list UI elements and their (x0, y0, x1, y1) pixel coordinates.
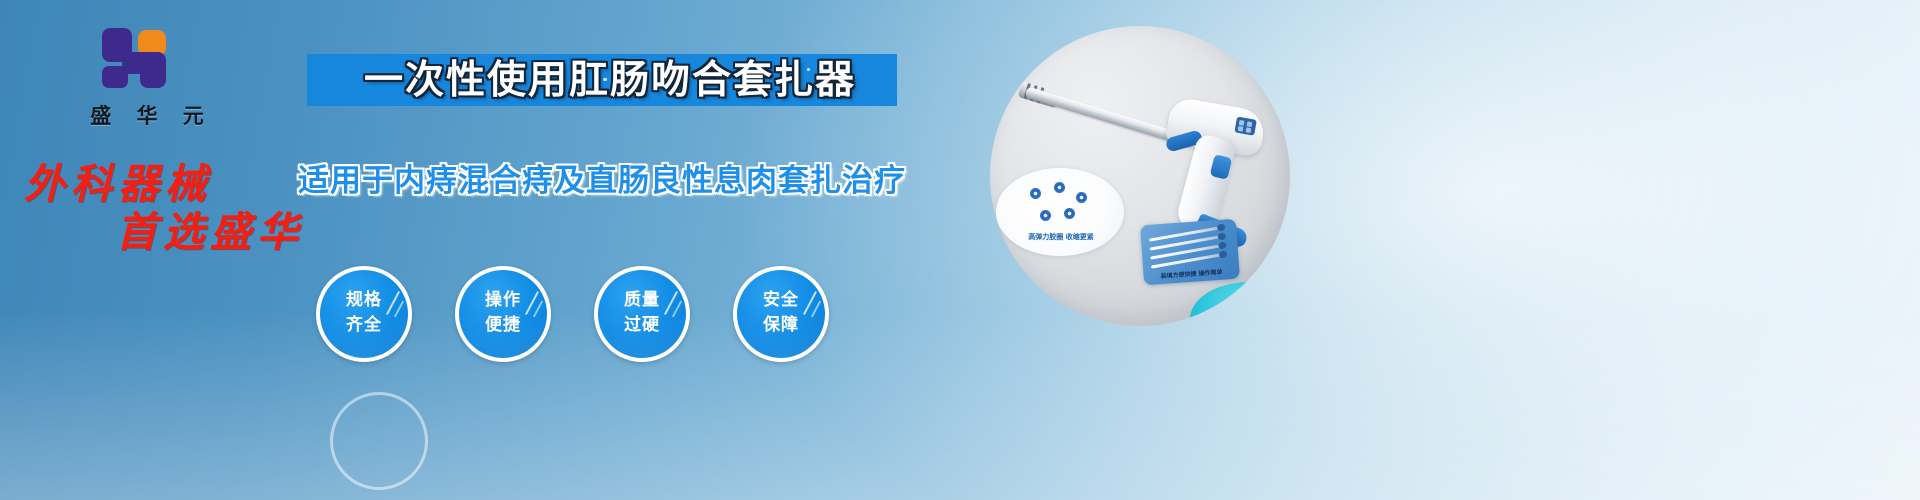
feature-badge-0[interactable]: 规格 齐全 (316, 266, 412, 362)
cartridge-icon (1207, 299, 1285, 326)
page-subtitle: 适用于内痔混合痔及直肠良性息肉套扎治疗 (292, 160, 912, 202)
feature-badge-0-line2: 齐全 (320, 313, 408, 338)
product-photo: 高弹力胶圈 收缩更紧 装填方便快捷 操作简单 (990, 26, 1290, 326)
feature-badge-2[interactable]: 质量 过硬 (594, 266, 690, 362)
shenghuayuan-logo-mark (100, 26, 194, 90)
brand-name: 盛 华 元 (72, 100, 222, 130)
accessory-label-panel: 装填方便快捷 操作简单 (1140, 219, 1240, 286)
feature-badges: 规格 齐全 操作 便捷 质量 过硬 安全 保障 (300, 266, 860, 371)
feature-badge-1[interactable]: 操作 便捷 (455, 266, 551, 362)
feature-badge-3-line2: 保障 (737, 313, 825, 338)
feature-badge-1-line2: 便捷 (459, 313, 547, 338)
feature-badge-0-line1: 规格 (320, 288, 408, 313)
rubber-rings-inset: 高弹力胶圈 收缩更紧 (996, 168, 1124, 256)
feature-badge-2-line1: 质量 (598, 288, 686, 313)
rubber-rings-caption: 高弹力胶圈 收缩更紧 (1006, 232, 1116, 242)
feature-badge-2-line2: 过硬 (598, 313, 686, 338)
slogan-line-2: 首选盛华 (116, 198, 304, 258)
rubber-ring-icon (1076, 192, 1087, 203)
device-control-panel (1234, 117, 1256, 136)
feature-badge-3[interactable]: 安全 保障 (733, 266, 829, 362)
rubber-ring-icon (1054, 182, 1065, 193)
rubber-ring-icon (1040, 210, 1051, 221)
promo-banner: 盛 华 元 一次性使用肛肠吻合套扎器 适用于内痔混合痔及直肠良性息肉套扎治疗 外… (0, 0, 1920, 500)
rubber-ring-icon (1030, 188, 1041, 199)
accessory-caption: 装填方便快捷 操作简单 (1143, 266, 1239, 282)
device-button (1210, 154, 1233, 180)
brand-logo[interactable]: 盛 华 元 (72, 26, 222, 126)
page-title: 一次性使用肛肠吻合套扎器 (330, 55, 890, 107)
feature-badge-1-line1: 操作 (459, 288, 547, 313)
slogan: 外科器械 首选盛华 (18, 150, 328, 260)
decorative-ring (330, 392, 428, 490)
feature-badge-3-line1: 安全 (737, 288, 825, 313)
rubber-ring-icon (1064, 208, 1075, 219)
cartridge-inset (1190, 282, 1290, 326)
